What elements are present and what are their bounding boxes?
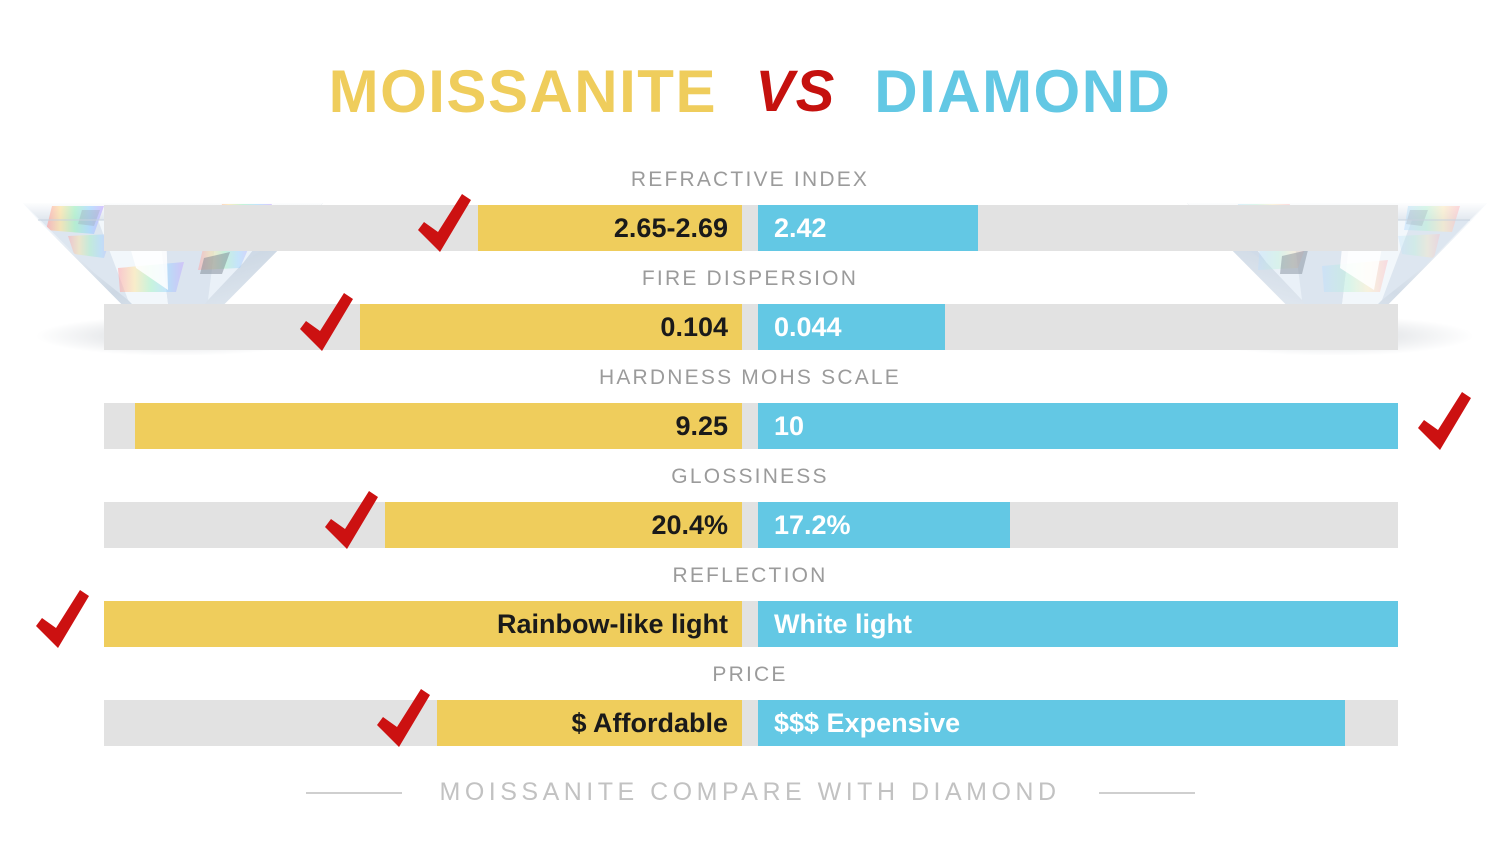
moissanite-bar: $ Affordable <box>437 700 742 746</box>
moissanite-value: 9.25 <box>675 413 728 440</box>
moissanite-bar: 20.4% <box>385 502 742 548</box>
diamond-bar: 10 <box>758 403 1398 449</box>
comparison-row-price: PRICE $ Affordable $$$ Expensive <box>0 663 1500 762</box>
diamond-bar: White light <box>758 601 1398 647</box>
page-title: MOISSANITE VS DIAMOND <box>0 62 1500 122</box>
infographic-root: MOISSANITE VS DIAMOND <box>0 0 1500 850</box>
footer-rule-right <box>1099 792 1195 794</box>
checkmark-icon <box>296 291 358 355</box>
row-label: HARDNESS MOHS SCALE <box>0 366 1500 390</box>
row-label: REFLECTION <box>0 564 1500 588</box>
row-track <box>104 502 1398 548</box>
row-track <box>104 205 1398 251</box>
diamond-value: White light <box>774 611 912 638</box>
moissanite-value: $ Affordable <box>571 710 728 737</box>
checkmark-icon <box>1414 390 1476 454</box>
footer-rule-left <box>306 792 402 794</box>
moissanite-bar: Rainbow-like light <box>104 601 742 647</box>
checkmark-icon <box>414 192 476 256</box>
title-vs: VS <box>755 63 835 121</box>
moissanite-bar: 9.25 <box>135 403 742 449</box>
comparison-rows: REFRACTIVE INDEX 2.65-2.69 2.42 FIRE DIS… <box>0 168 1500 762</box>
footer-caption: MOISSANITE COMPARE WITH DIAMOND <box>440 778 1061 807</box>
checkmark-icon <box>373 687 435 751</box>
checkmark-icon <box>321 489 383 553</box>
row-label: FIRE DISPERSION <box>0 267 1500 291</box>
moissanite-value: 0.104 <box>660 314 728 341</box>
diamond-bar: 17.2% <box>758 502 1010 548</box>
diamond-bar: 2.42 <box>758 205 978 251</box>
diamond-bar: 0.044 <box>758 304 945 350</box>
comparison-row-fire-dispersion: FIRE DISPERSION 0.104 0.044 <box>0 267 1500 366</box>
diamond-value: 2.42 <box>774 215 827 242</box>
row-label: PRICE <box>0 663 1500 687</box>
moissanite-value: Rainbow-like light <box>497 611 728 638</box>
moissanite-bar: 2.65-2.69 <box>478 205 742 251</box>
comparison-row-refractive-index: REFRACTIVE INDEX 2.65-2.69 2.42 <box>0 168 1500 267</box>
row-label: REFRACTIVE INDEX <box>0 168 1500 192</box>
comparison-row-glossiness: GLOSSINESS 20.4% 17.2% <box>0 465 1500 564</box>
diamond-value: 17.2% <box>774 512 851 539</box>
checkmark-icon <box>32 588 94 652</box>
moissanite-bar: 0.104 <box>360 304 742 350</box>
comparison-row-hardness-mohs-scale: HARDNESS MOHS SCALE 9.25 10 <box>0 366 1500 465</box>
title-moissanite: MOISSANITE <box>329 62 717 122</box>
diamond-value: 0.044 <box>774 314 842 341</box>
footer: MOISSANITE COMPARE WITH DIAMOND <box>0 778 1500 807</box>
title-diamond: DIAMOND <box>874 62 1171 122</box>
diamond-value: 10 <box>774 413 804 440</box>
moissanite-value: 2.65-2.69 <box>614 215 728 242</box>
diamond-bar: $$$ Expensive <box>758 700 1345 746</box>
row-label: GLOSSINESS <box>0 465 1500 489</box>
moissanite-value: 20.4% <box>651 512 728 539</box>
diamond-value: $$$ Expensive <box>774 710 960 737</box>
comparison-row-reflection: REFLECTION Rainbow-like light White ligh… <box>0 564 1500 663</box>
